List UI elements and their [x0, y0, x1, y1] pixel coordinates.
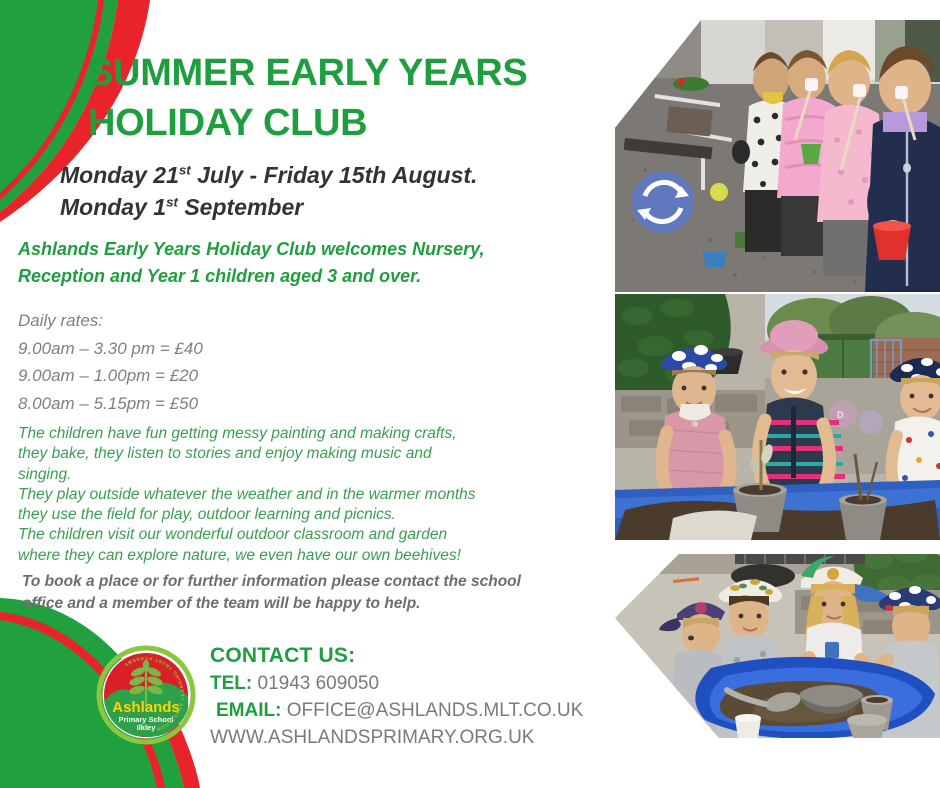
- welcome-line-2: Reception and Year 1 children aged 3 and…: [18, 263, 563, 290]
- activities-line: they use the field for play, outdoor lea…: [18, 505, 578, 525]
- school-logo: Ashlands Primary School Ilkley MOORLANDS…: [96, 645, 196, 745]
- rate-item: 9.00am – 1.00pm = £20: [18, 362, 438, 390]
- svg-text:D: D: [837, 410, 844, 420]
- photo-collage: D P: [615, 20, 940, 740]
- poster-root: SUMMER EARLY YEARS HOLIDAY CLUB Monday 2…: [0, 0, 940, 788]
- welcome-line-1: Ashlands Early Years Holiday Club welcom…: [18, 236, 563, 263]
- page-title-line2: HOLIDAY CLUB: [88, 98, 608, 148]
- photo-mud-kitchen: [615, 542, 940, 738]
- booking-note: To book a place or for further informati…: [22, 571, 582, 616]
- date-line-1-suffix: July - Friday 15th August.: [191, 162, 478, 188]
- contact-tel-value[interactable]: 01943 609050: [258, 673, 380, 694]
- page-title: SUMMER EARLY YEARS HOLIDAY CLUB: [88, 48, 608, 148]
- activities-line: The children have fun getting messy pain…: [18, 424, 578, 444]
- page-title-line1: SUMMER EARLY YEARS: [88, 52, 527, 94]
- dates-block: Monday 21st July - Friday 15th August. M…: [60, 160, 590, 223]
- date-line-1-sup: st: [179, 162, 191, 177]
- activities-text: The children have fun getting messy pain…: [18, 424, 578, 566]
- date-line-2-prefix: Monday 1: [60, 194, 166, 220]
- date-line-1-prefix: Monday 21: [60, 162, 179, 188]
- date-line-2-suffix: September: [178, 194, 303, 220]
- activities-line: singing.: [18, 465, 578, 485]
- contact-title: CONTACT US:: [210, 641, 610, 671]
- activities-line: they bake, they listen to stories and en…: [18, 444, 578, 464]
- contact-tel-row: TEL: 01943 609050: [210, 671, 610, 698]
- daily-rates-block: Daily rates: 9.00am – 3.30 pm = £40 9.00…: [18, 307, 438, 417]
- booking-note-line-1: To book a place or for further informati…: [22, 571, 582, 593]
- contact-email-value[interactable]: OFFICE@ASHLANDS.MLT.CO.UK: [287, 700, 584, 721]
- logo-wordmark: Ashlands: [112, 699, 180, 716]
- activities-line: They play outside whatever the weather a…: [18, 485, 578, 505]
- contact-website[interactable]: WWW.ASHLANDSPRIMARY.ORG.UK: [210, 725, 610, 752]
- contact-email-label: EMAIL:: [216, 700, 281, 721]
- contact-email-row: EMAIL: OFFICE@ASHLANDS.MLT.CO.UK: [210, 698, 610, 725]
- date-line-2: Monday 1st September: [60, 192, 590, 224]
- rate-item: 9.00am – 3.30 pm = £40: [18, 335, 438, 363]
- welcome-text: Ashlands Early Years Holiday Club welcom…: [18, 236, 563, 289]
- contact-tel-label: TEL:: [210, 673, 252, 694]
- date-line-1: Monday 21st July - Friday 15th August.: [60, 160, 590, 192]
- activities-line: The children visit our wonderful outdoor…: [18, 525, 578, 545]
- logo-subtitle-2: Ilkley: [137, 723, 157, 732]
- rate-item: 8.00am – 5.15pm = £50: [18, 390, 438, 418]
- contact-block: CONTACT US: TEL: 01943 609050 EMAIL: OFF…: [210, 641, 610, 752]
- activities-line: where they can explore nature, we even h…: [18, 546, 578, 566]
- photo-planting: D P: [615, 294, 940, 540]
- date-line-2-sup: st: [166, 194, 178, 209]
- booking-note-line-2: office and a member of the team will be …: [22, 593, 582, 615]
- photo-marshmallows: [615, 20, 940, 292]
- daily-rates-heading: Daily rates:: [18, 307, 438, 335]
